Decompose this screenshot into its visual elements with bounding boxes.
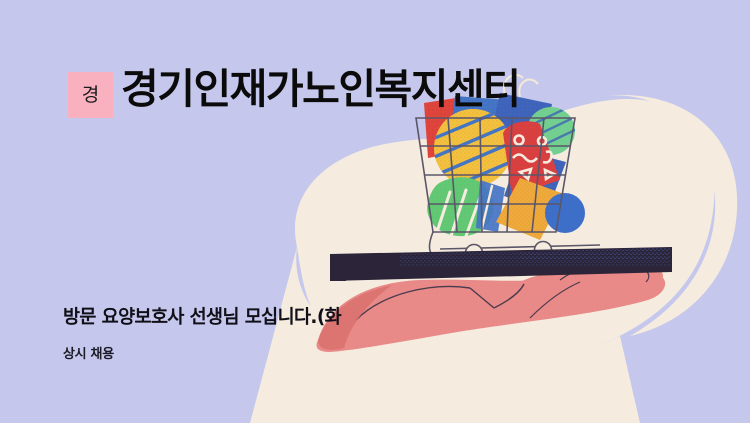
page-title: 경기인재가노인복지센터 <box>121 66 519 113</box>
job-headline: 방문 요양보호사 선생님 모십니다.(화 <box>63 303 341 329</box>
organization-badge: 경 <box>68 72 113 118</box>
badge-label: 경 <box>82 86 99 105</box>
item-blue-ball <box>545 193 585 233</box>
job-posting-banner: 경 경기인재가노인복지센터 방문 요양보호사 선생님 모십니다.(화 상시 채용 <box>0 0 750 423</box>
recruitment-status: 상시 채용 <box>63 343 114 362</box>
